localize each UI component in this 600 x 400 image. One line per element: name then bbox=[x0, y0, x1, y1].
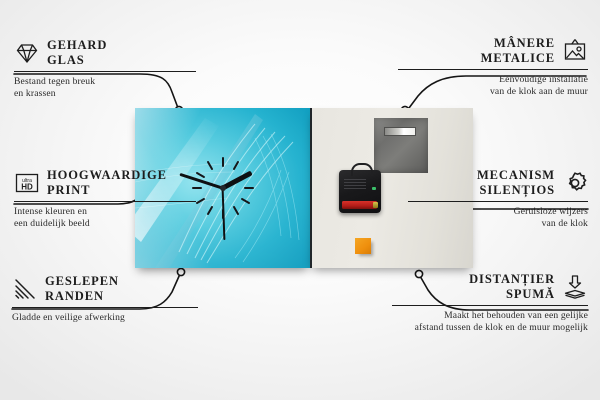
diamond-icon bbox=[14, 40, 40, 66]
feature-subtitle: Eenvoudige installatievan de klok aan de… bbox=[398, 74, 588, 99]
press-down-spacer-icon bbox=[562, 274, 588, 300]
clock-mechanism-part bbox=[339, 170, 381, 213]
metal-hanger-part bbox=[374, 118, 428, 173]
feature-silent-mechanism: MECANISMSILENȚIOS Geruisloze wijzersvan … bbox=[408, 168, 588, 230]
feature-header: DISTANȚIERSPUMĂ bbox=[392, 272, 588, 302]
svg-text:HD: HD bbox=[21, 182, 33, 191]
feature-title: MECANISMSILENȚIOS bbox=[477, 168, 555, 198]
hanger-slot bbox=[384, 127, 416, 136]
ultra-hd-icon: ultra HD bbox=[14, 170, 40, 196]
feature-foam-spacer: DISTANȚIERSPUMĂ Maakt het behouden van e… bbox=[392, 272, 588, 334]
divider bbox=[14, 71, 196, 72]
feature-title: HOOGWAARDIGEPRINT bbox=[47, 168, 167, 198]
feature-header: MÂNEREMETALICE bbox=[398, 36, 588, 66]
feature-title: DISTANȚIERSPUMĂ bbox=[469, 272, 555, 302]
feature-subtitle: Bestand tegen breuken krassen bbox=[14, 76, 196, 101]
second-hand bbox=[222, 188, 225, 240]
hanging-picture-icon bbox=[562, 38, 588, 64]
feature-title: GESLEPENRANDEN bbox=[45, 274, 119, 304]
divider bbox=[12, 307, 198, 308]
mechanism-label bbox=[344, 179, 366, 189]
feature-header: GEHARDGLAS bbox=[14, 38, 196, 68]
feature-header: MECANISMSILENȚIOS bbox=[408, 168, 588, 198]
feature-subtitle: Intense kleuren eneen duidelijk beeld bbox=[14, 206, 196, 231]
divider bbox=[392, 305, 588, 306]
feature-subtitle: Gladde en veilige afwerking bbox=[12, 312, 198, 324]
divider bbox=[14, 201, 196, 202]
mechanism-indicator bbox=[372, 187, 376, 190]
feature-header: ultra HD HOOGWAARDIGEPRINT bbox=[14, 168, 196, 198]
divider bbox=[398, 69, 588, 70]
gear-icon bbox=[562, 170, 588, 196]
feature-high-quality-print: ultra HD HOOGWAARDIGEPRINT Intense kleur… bbox=[14, 168, 196, 230]
hanging-loop bbox=[351, 163, 373, 176]
battery-part bbox=[342, 201, 377, 209]
feature-metal-handles: MÂNEREMETALICE Eenvoudige installatievan… bbox=[398, 36, 588, 98]
beveled-edges-icon bbox=[12, 276, 38, 302]
feature-subtitle: Geruisloze wijzersvan de klok bbox=[408, 206, 588, 231]
feature-subtitle: Maakt het behouden van een gelijkeafstan… bbox=[392, 310, 588, 335]
feature-tempered-glass: GEHARDGLAS Bestand tegen breuken krassen bbox=[14, 38, 196, 100]
feature-ground-edges: GESLEPENRANDEN Gladde en veilige afwerki… bbox=[12, 274, 198, 324]
feature-title: GEHARDGLAS bbox=[47, 38, 107, 68]
divider bbox=[408, 201, 588, 202]
foam-spacer-part bbox=[355, 238, 371, 254]
feature-header: GESLEPENRANDEN bbox=[12, 274, 198, 304]
feature-title: MÂNEREMETALICE bbox=[481, 36, 555, 66]
hand-center-cap bbox=[220, 185, 226, 191]
infographic-canvas: GEHARDGLAS Bestand tegen breuken krassen… bbox=[0, 0, 600, 400]
